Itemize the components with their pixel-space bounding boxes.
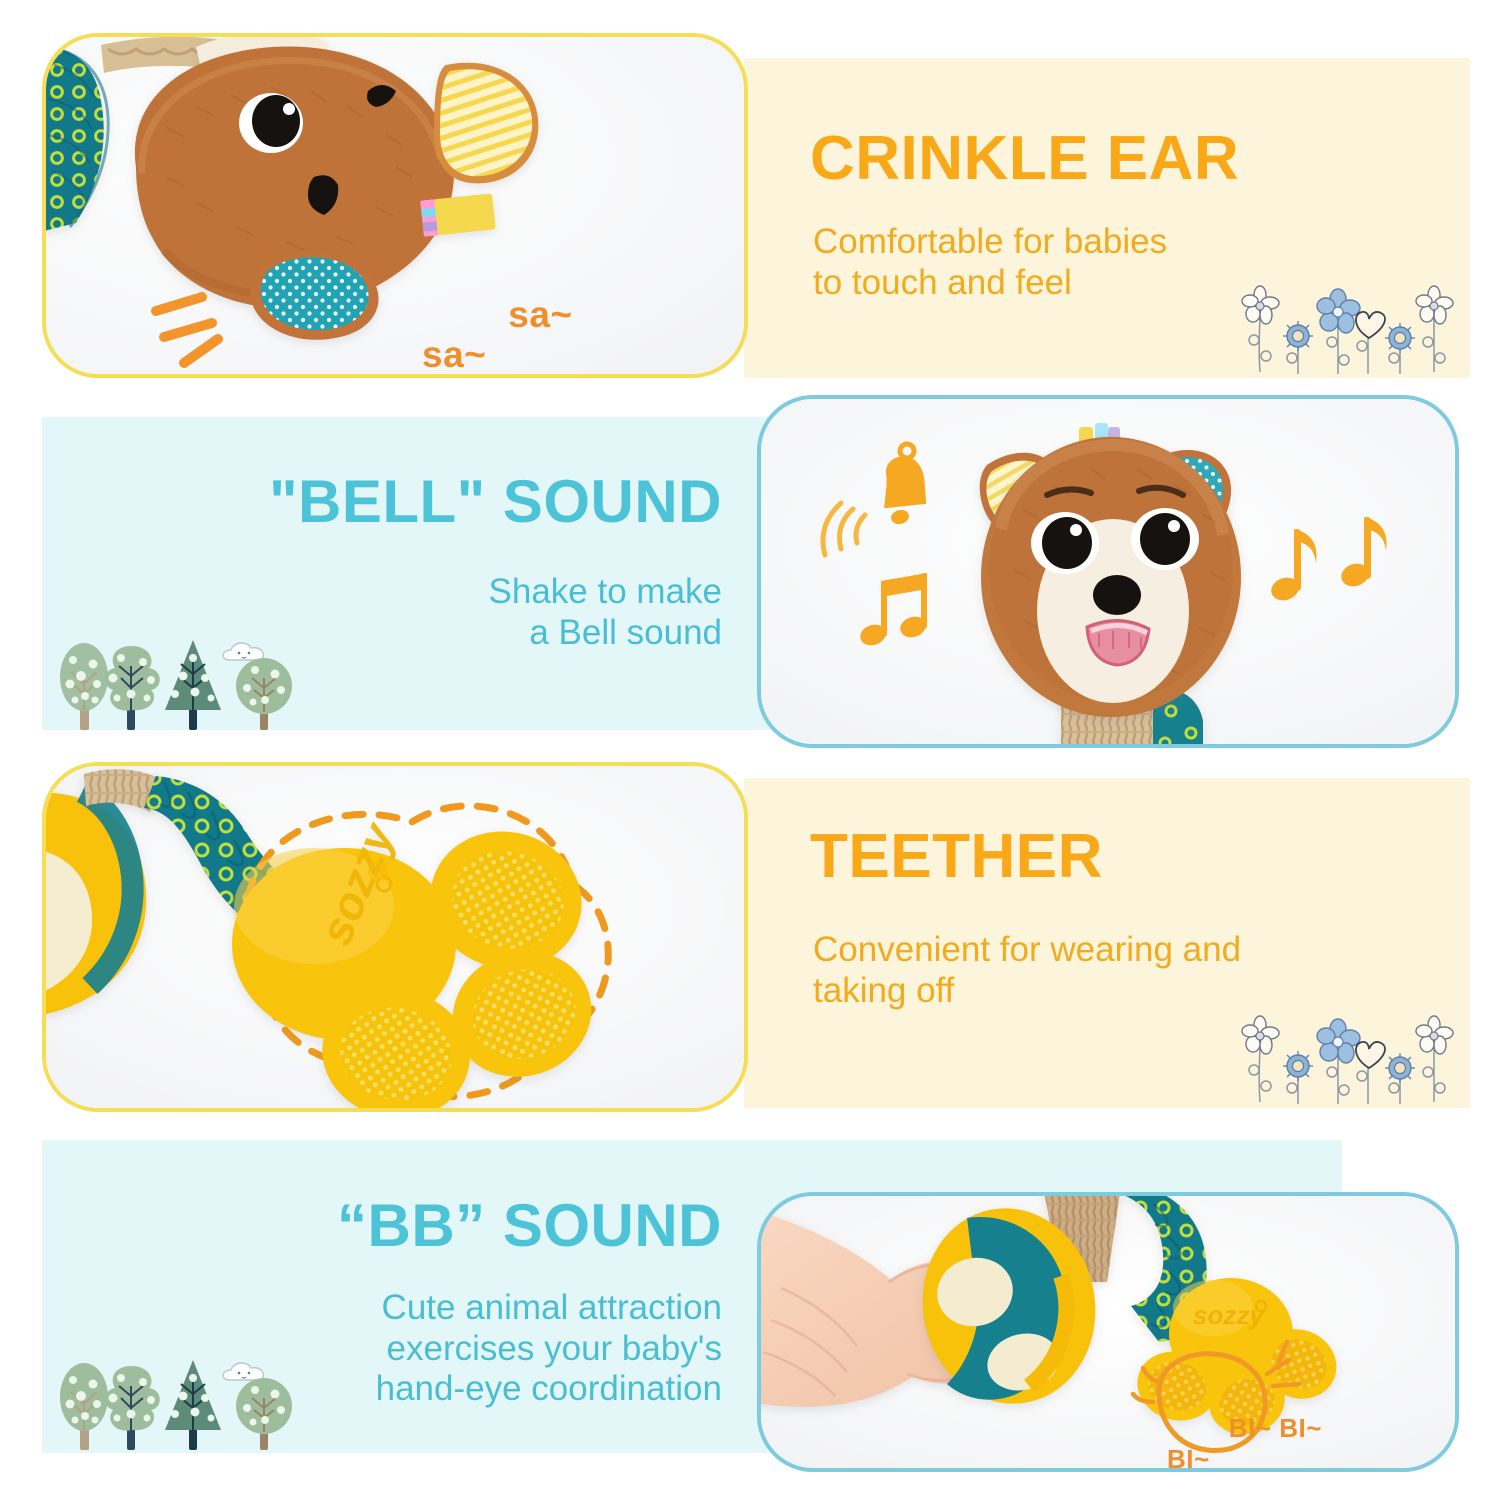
panel-4-photo-card: sozzy BI~ BI~ BI~: [757, 1192, 1459, 1472]
panel-4-headline-wrap: “BB” SOUND: [0, 1196, 722, 1256]
infographic-page: sa~ sa~ CRINKLE EAR Comfortable for babi…: [0, 0, 1500, 1500]
panel-2-headline-wrap: "BELL" SOUND: [0, 472, 722, 532]
panel-1-flower-decor: [1228, 284, 1460, 376]
panel-3-subline: Convenient for wearing and taking off: [813, 930, 1453, 1011]
panel-3-flower-decor: [1228, 1014, 1460, 1106]
panel-1-photo: sa~ sa~: [46, 37, 744, 374]
panel-1-photo-card: sa~ sa~: [42, 33, 748, 378]
panel-4-photo: sozzy BI~ BI~ BI~: [761, 1196, 1455, 1468]
panel-1-photo-caption: sa~ sa~: [422, 255, 642, 374]
panel-4-tree-decor: [55, 1352, 297, 1452]
panel-3-photo-card: sozzy: [42, 762, 748, 1112]
panel-2-photo-card: [757, 395, 1459, 748]
panel-3-headline: TEETHER: [810, 826, 1103, 888]
panel-2-tree-decor: [55, 632, 297, 732]
panel-4-photo-caption: BI~ BI~ BI~: [1167, 1382, 1297, 1468]
panel-2-headline: "BELL" SOUND: [0, 472, 722, 532]
panel-1-headline-wrap: CRINKLE EAR: [810, 128, 1239, 190]
panel-4-headline: “BB” SOUND: [0, 1196, 722, 1256]
panel-1-headline: CRINKLE EAR: [810, 128, 1239, 190]
panel-2-photo: [761, 399, 1455, 744]
panel-3-photo: sozzy: [46, 766, 744, 1108]
svg-text:sozzy: sozzy: [1193, 1300, 1265, 1330]
panel-3-headline-wrap: TEETHER: [810, 826, 1103, 888]
